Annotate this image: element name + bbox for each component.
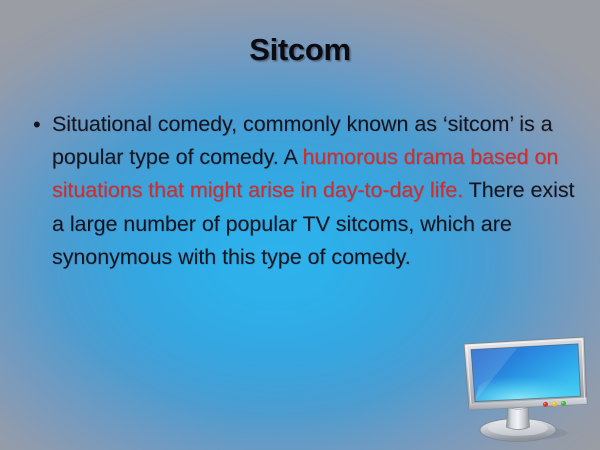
led-yellow-icon (552, 401, 557, 406)
bullet-text: Situational comedy, commonly known as ‘s… (52, 108, 578, 274)
page-title: Sitcom (0, 32, 600, 68)
lcd-monitor-icon (456, 334, 592, 446)
bullet-marker-icon: • (30, 108, 52, 141)
led-red-icon (543, 402, 548, 407)
body-text-block: • Situational comedy, commonly known as … (30, 108, 578, 274)
led-green-icon (561, 401, 566, 406)
presentation-slide: Sitcom • Situational comedy, commonly kn… (0, 0, 600, 450)
list-item: • Situational comedy, commonly known as … (30, 108, 578, 274)
monitor-stand-neck (507, 406, 530, 430)
